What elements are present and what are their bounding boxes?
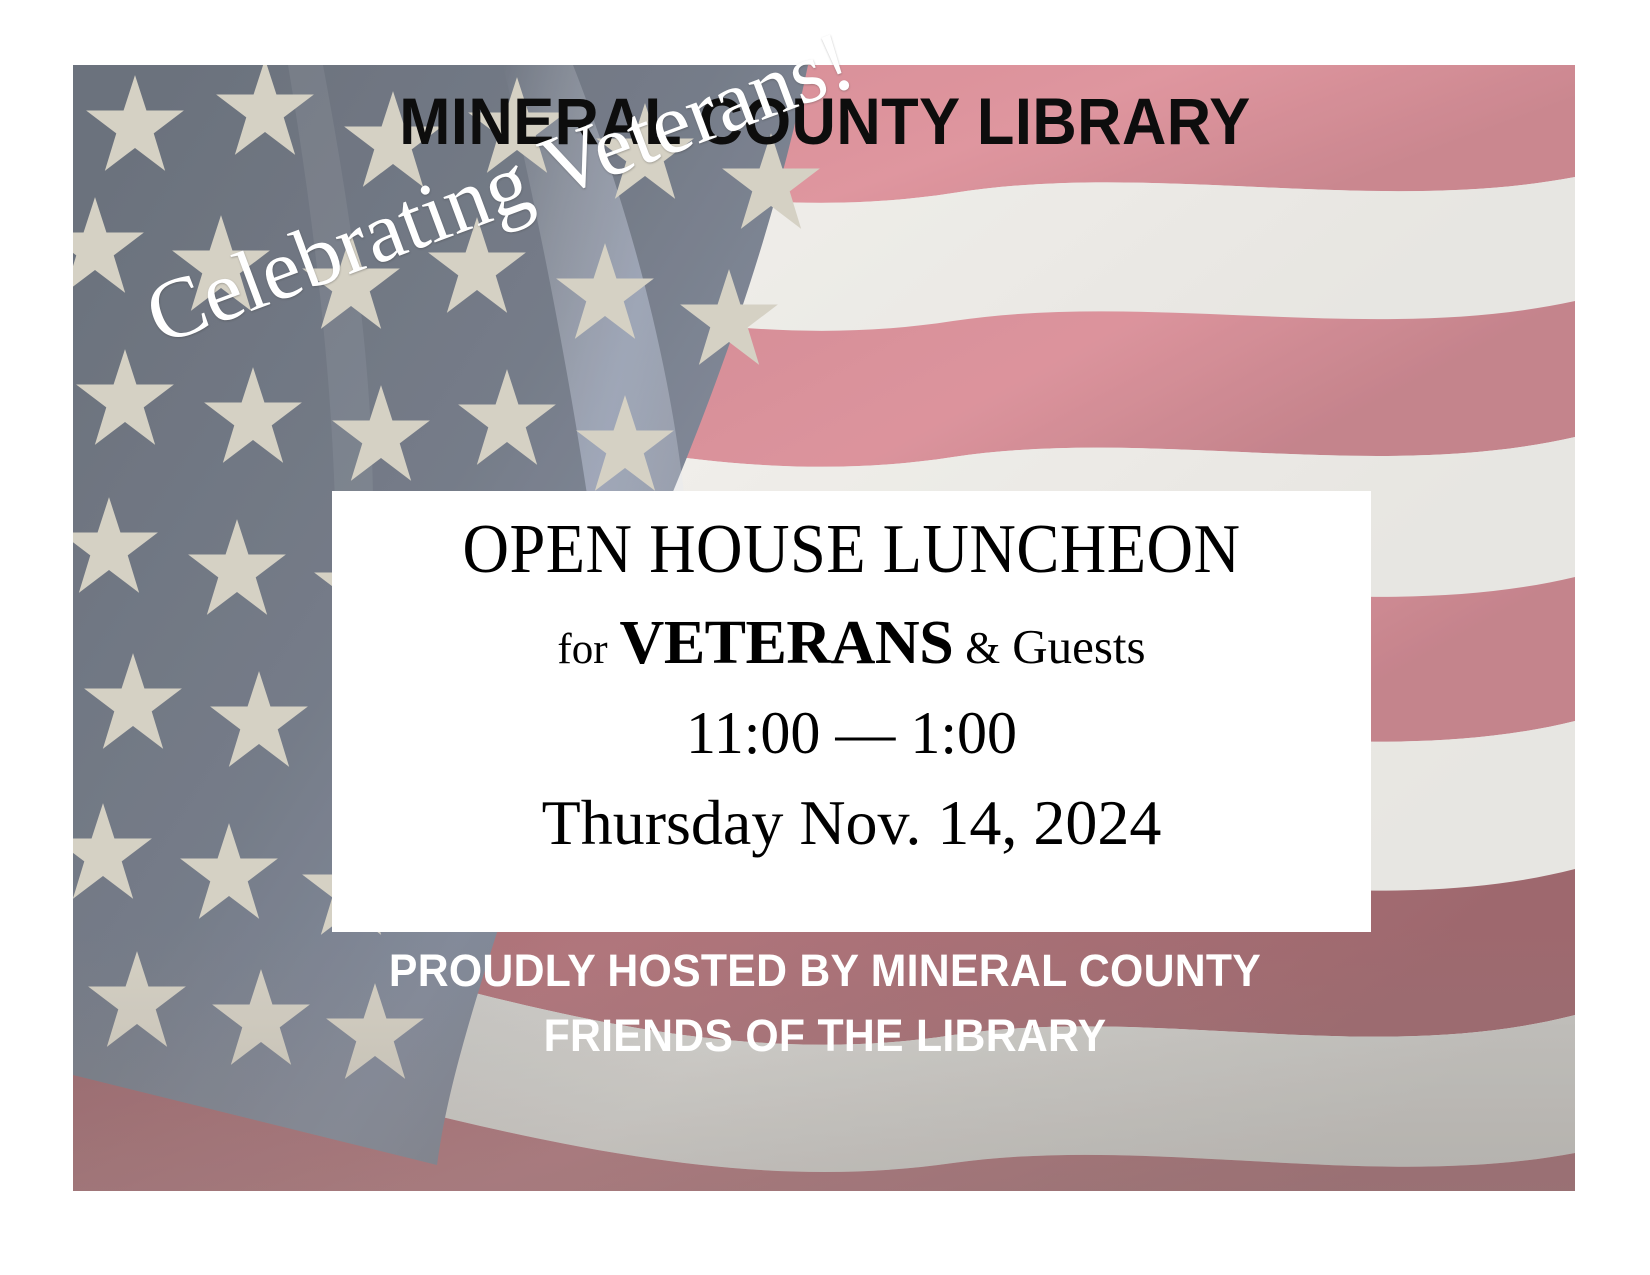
event-date: Thursday Nov. 14, 2024 (332, 789, 1371, 856)
event-time: 11:00 — 1:00 (332, 702, 1371, 765)
event-details-card: OPEN HOUSE LUNCHEON for VETERANS & Guest… (332, 491, 1371, 932)
host-credit-line-1: PROUDLY HOSTED BY MINERAL COUNTY (41, 938, 1609, 1003)
poster-canvas: MINERAL COUNTY LIBRARY Celebrating Veter… (0, 0, 1650, 1275)
host-credit-line-2: FRIENDS OF THE LIBRARY (41, 1003, 1609, 1068)
event-audience-line: for VETERANS & Guests (332, 611, 1371, 676)
audience-ampersand: & (965, 623, 1000, 673)
audience-prefix: for (557, 626, 607, 673)
host-credit: PROUDLY HOSTED BY MINERAL COUNTY FRIENDS… (41, 938, 1609, 1069)
audience-suffix: Guests (1012, 619, 1145, 674)
audience-main: VETERANS (620, 609, 954, 677)
event-headline: OPEN HOUSE LUNCHEON (374, 513, 1330, 587)
